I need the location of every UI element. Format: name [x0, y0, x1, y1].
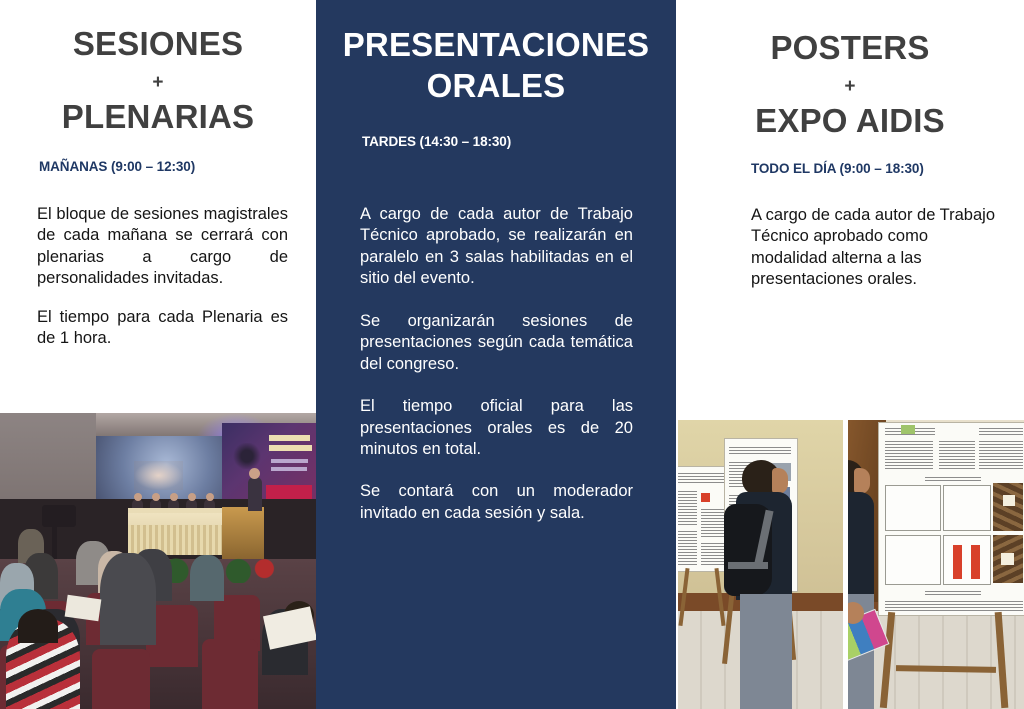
poster-hall-scene-a	[678, 420, 846, 709]
conference-hall-photo	[0, 413, 316, 709]
video-camera	[42, 505, 76, 527]
heading-line-1-center: PRESENTACIONES	[316, 24, 676, 65]
heading-block-center: PRESENTACIONES ORALES	[316, 0, 676, 107]
heading-line-2-center: ORALES	[316, 65, 676, 106]
subtitle-center: TARDES (14:30 – 18:30)	[362, 134, 676, 149]
heading-block-right: POSTERS + EXPO AIDIS	[676, 0, 1024, 140]
paragraph: El tiempo oficial para las presentacione…	[360, 396, 633, 460]
podium	[222, 507, 264, 559]
poster-board-main	[878, 422, 1024, 616]
heading-block-left: SESIONES + PLENARIAS	[0, 0, 316, 136]
hall-scene	[0, 413, 316, 709]
body-text-left: El bloque de sesiones magistrales de cad…	[37, 204, 288, 367]
subtitle-right: TODO EL DÍA (9:00 – 18:30)	[751, 161, 1024, 176]
heading-plus-left: +	[0, 72, 316, 93]
visitor-face-b	[854, 468, 870, 494]
body-text-right: A cargo de cada autor de Trabajo Técnico…	[751, 205, 1001, 308]
paragraph: A cargo de cada autor de Trabajo Técnico…	[751, 205, 1001, 291]
heading-line-1-right: POSTERS	[676, 30, 1024, 67]
paragraph: El tiempo para cada Plenaria es de 1 hor…	[37, 307, 288, 350]
projection-screen	[96, 436, 224, 499]
paragraph: Se organizarán sesiones de presentacione…	[360, 311, 633, 375]
paragraph: El bloque de sesiones magistrales de cad…	[37, 204, 288, 290]
paragraph: A cargo de cada autor de Trabajo Técnico…	[360, 204, 633, 290]
speaker-person	[248, 477, 262, 511]
poster-hall-scene-b	[848, 420, 1024, 709]
body-text-center: A cargo de cada autor de Trabajo Técnico…	[360, 204, 633, 545]
visitor-backpack	[724, 504, 772, 596]
photo-divider	[843, 420, 846, 709]
paragraph: Se contará con un moderador invitado en …	[360, 481, 633, 524]
heading-plus-right: +	[676, 76, 1024, 97]
visitor-face	[772, 468, 788, 494]
visitor-jeans	[740, 594, 792, 709]
visitor-body-b	[848, 492, 874, 600]
heading-line-2-left: PLENARIAS	[0, 99, 316, 136]
poster-session-photo-b	[848, 420, 1024, 709]
subtitle-left: MAÑANAS (9:00 – 12:30)	[39, 159, 316, 174]
poster-session-photo-a	[678, 420, 846, 709]
slide-root: SESIONES + PLENARIAS MAÑANAS (9:00 – 12:…	[0, 0, 1024, 709]
banner-hands-graphic	[232, 443, 262, 469]
heading-line-1-left: SESIONES	[0, 26, 316, 63]
head-table	[128, 513, 223, 555]
column-presentaciones-orales: PRESENTACIONES ORALES TARDES (14:30 – 18…	[316, 0, 676, 709]
heading-line-2-right: EXPO AIDIS	[676, 103, 1024, 140]
